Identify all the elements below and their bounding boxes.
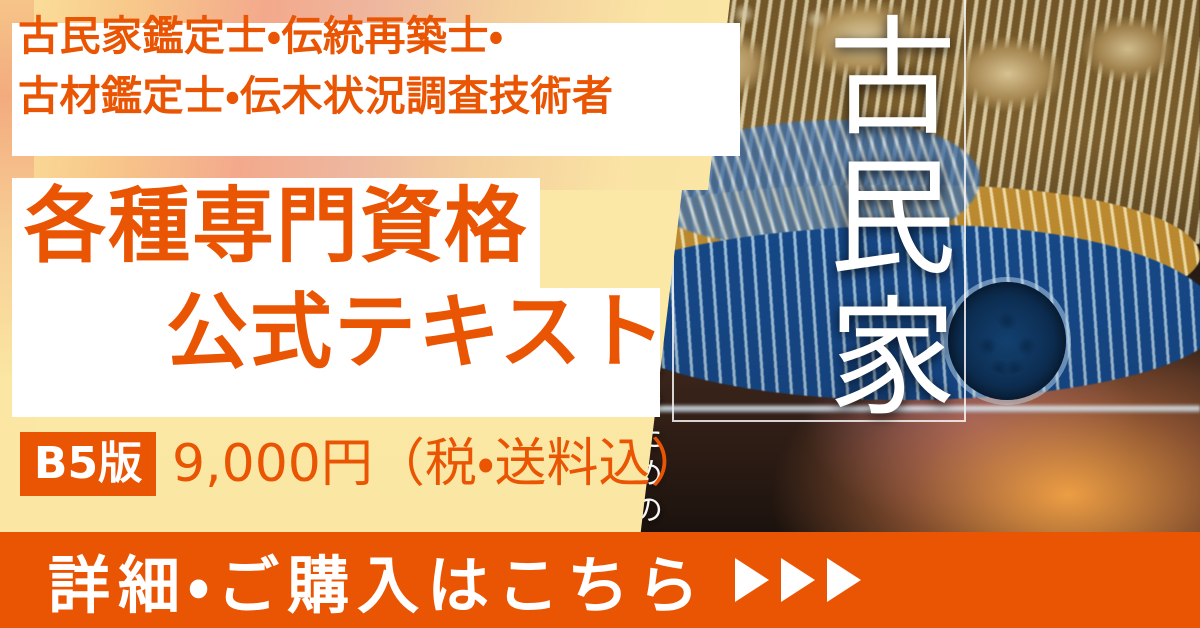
- price-text: 9,000円（税・送料込）: [172, 432, 703, 496]
- cta-label: 詳細・ご購入はこちら: [48, 535, 707, 625]
- promo-banner: 古民家 伝統構法 古民家活用のための調査と再生の 古民家鑑定士・伝統再築士・ 古…: [0, 0, 1200, 628]
- cta-bar[interactable]: 詳細・ご購入はこちら: [0, 532, 1200, 628]
- size-badge: B5版: [20, 432, 156, 496]
- page-title-line-1: 各種専門資格: [24, 186, 528, 268]
- chevron-right-icon: [781, 558, 815, 602]
- page-title-line-2: 公式テキスト: [166, 292, 668, 374]
- qualifications-line-1: 古民家鑑定士・伝統再築士・: [18, 6, 613, 66]
- qualifications-text: 古民家鑑定士・伝統再築士・ 古材鑑定士・伝木状況調査技術者: [18, 6, 613, 127]
- book-cover-title: 古民家: [788, 10, 973, 430]
- cta-arrow-group: [735, 558, 861, 602]
- chevron-right-icon: [735, 558, 769, 602]
- qualifications-line-2: 古材鑑定士・伝木状況調査技術者: [18, 66, 613, 126]
- chevron-right-icon: [827, 558, 861, 602]
